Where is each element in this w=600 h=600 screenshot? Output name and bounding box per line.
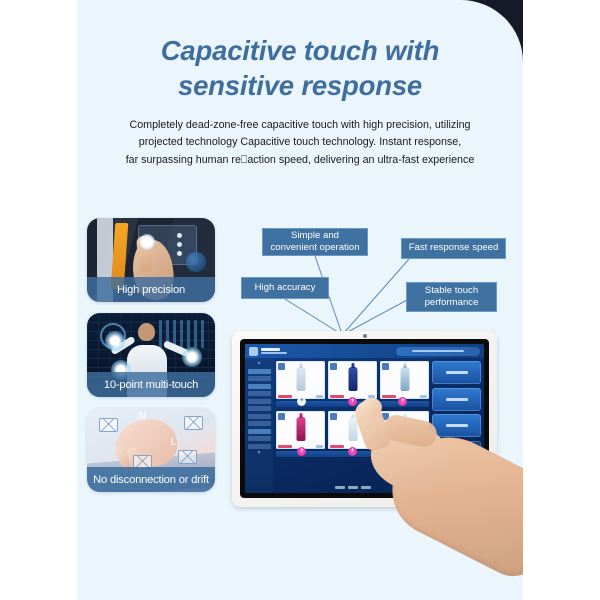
sidebar-item[interactable] [248,406,271,411]
sidebar-item[interactable] [248,414,271,419]
sidebar-item[interactable] [248,444,271,449]
right-margin [523,0,600,600]
product-card[interactable] [328,361,377,399]
search-input[interactable] [396,347,480,356]
tablet-device: ▲ ▼ [232,331,497,507]
product-card[interactable] [276,411,325,449]
touch-ripple-icon [444,440,469,465]
sidebar-item[interactable] [248,391,271,396]
feature-card-no-drift: NL No disconnection or drift [87,408,215,492]
sidebar-item[interactable] [248,436,271,441]
sidebar-item[interactable] [248,369,271,374]
pagination[interactable] [276,482,429,493]
sidebar-item[interactable] [248,376,271,381]
menu-button-checkout[interactable] [432,467,481,490]
chevron-up-icon[interactable]: ▲ [256,361,263,366]
sidebar-item[interactable] [248,421,271,426]
product-card[interactable] [328,411,377,449]
feature-card-caption: 10-point multi-touch [87,372,215,397]
callout-fast-response[interactable]: Fast response speed [401,238,506,259]
add-product-button[interactable]: + [348,397,357,406]
menu-button-store-intro[interactable] [432,414,481,437]
left-margin [0,0,77,600]
feature-card-caption: No disconnection or drift [87,467,215,492]
menu-button-pressed[interactable] [432,441,481,464]
product-card[interactable] [380,411,429,449]
callout-high-accuracy[interactable]: High accuracy [241,277,329,299]
add-product-button[interactable]: + [398,397,407,406]
callout-stable-touch[interactable]: Stable touch performance [406,282,497,312]
menu-button-home[interactable] [432,361,481,384]
tablet-screen[interactable]: ▲ ▼ [245,344,484,493]
add-product-button[interactable]: + [398,447,407,456]
brand-logo-icon [249,347,258,356]
menu-button-all-products[interactable] [432,388,481,411]
product-grid-row-1 [276,361,429,399]
brand-name [261,348,287,354]
add-product-button[interactable]: + [297,397,306,406]
product-card[interactable] [276,361,325,399]
add-product-button[interactable]: + [348,447,357,456]
kiosk-menu-buttons [432,358,484,493]
poster-canvas: Capacitive touch with sensitive response… [0,0,600,600]
kiosk-body: ▲ ▼ [245,358,484,493]
chevron-down-icon[interactable]: ▼ [256,451,263,456]
camera-icon [363,334,367,338]
sidebar-item[interactable] [248,384,271,389]
callout-group: Simple and convenient operation Fast res… [77,0,523,340]
sidebar-item[interactable] [248,399,271,404]
product-card[interactable] [380,361,429,399]
product-area: + + + [273,358,432,493]
shelf-bar: + + + [276,451,429,457]
kiosk-sidebar[interactable]: ▲ ▼ [245,358,273,493]
sidebar-item[interactable] [248,429,271,434]
add-product-button[interactable]: + [297,447,306,456]
poster-panel: Capacitive touch with sensitive response… [77,0,523,600]
product-grid-row-2 [276,411,429,449]
callout-simple-operation[interactable]: Simple and convenient operation [262,228,368,256]
shelf-bar: + + + [276,401,429,407]
kiosk-header [245,344,484,358]
tablet-bezel: ▲ ▼ [240,339,489,498]
